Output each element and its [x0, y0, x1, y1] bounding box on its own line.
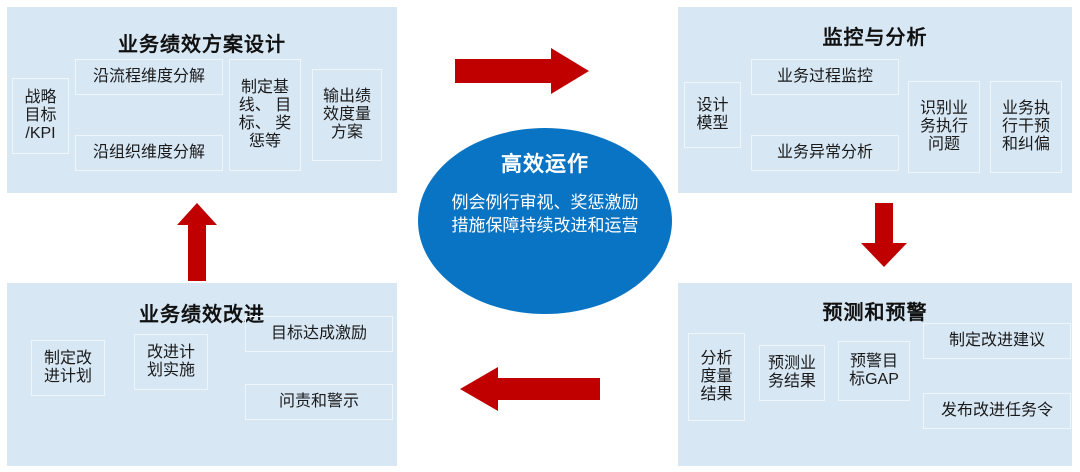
box-line: 务执行: [920, 118, 968, 136]
box-identify-execution-issues[interactable]: 识别业 务执行 问题: [908, 81, 980, 173]
box-line: 沿流程维度分解: [93, 68, 205, 86]
box-execute-improvement-plan[interactable]: 改进计 划实施: [134, 334, 208, 390]
box-line: 度量: [700, 368, 732, 386]
box-line: 标GAP: [849, 371, 899, 389]
box-line: 惩等: [239, 133, 291, 151]
box-design-model[interactable]: 设计 模型: [684, 82, 741, 148]
panel-title-forecast-and-alert: 预测和预警: [678, 303, 1072, 323]
panel-performance-plan-design: 业务绩效方案设计 战略 目标 /KPI 沿流程维度分解 沿组织维度分解 制定基 …: [7, 7, 397, 193]
box-line: 业务异常分析: [777, 144, 873, 162]
box-make-improvement-suggestion[interactable]: 制定改进建议: [923, 323, 1071, 359]
box-line: 制定改: [44, 350, 92, 368]
panel-monitoring-and-analysis: 监控与分析 设计 模型 业务过程监控 业务异常分析 识别业 务执行 问题 业务执…: [678, 7, 1072, 193]
box-line: 预警目: [849, 353, 899, 371]
box-decompose-by-process[interactable]: 沿流程维度分解: [75, 59, 223, 95]
box-line: 进计划: [44, 368, 92, 386]
arrow-monitor-to-forecast-icon: [861, 203, 907, 267]
box-analyze-measurement-results[interactable]: 分析 度量 结果: [688, 333, 745, 421]
panel-performance-improvement: 业务绩效改进 制定改 进计划 改进计 划实施 目标达成激励 问责和警示: [7, 283, 397, 466]
box-line: 设计: [696, 97, 728, 115]
box-line: 标、 奖: [239, 115, 291, 133]
box-line: 制定改进建议: [949, 332, 1045, 350]
box-line: 输出绩: [323, 88, 371, 106]
box-line: 问题: [920, 136, 968, 154]
box-line: 战略: [24, 89, 56, 107]
box-execution-intervention-correction[interactable]: 业务执 行干预 和纠偏: [990, 81, 1062, 173]
box-line: 方案: [323, 124, 371, 142]
box-line: 模型: [696, 115, 728, 133]
box-line: 制定基: [239, 79, 291, 97]
box-line: 结果: [700, 386, 732, 404]
panel-title-performance-plan-design: 业务绩效方案设计: [7, 35, 397, 55]
box-line: 改进计: [147, 344, 195, 362]
box-forecast-business-results[interactable]: 预测业 务结果: [759, 345, 825, 401]
box-goal-achievement-incentive[interactable]: 目标达成激励: [245, 316, 393, 352]
panel-title-monitoring-and-analysis: 监控与分析: [678, 28, 1072, 48]
arrow-forecast-to-improve-icon: [460, 367, 600, 411]
box-line: 问责和警示: [279, 393, 359, 411]
box-output-measurement-plan[interactable]: 输出绩 效度量 方案: [312, 69, 382, 161]
box-line: 沿组织维度分解: [93, 144, 205, 162]
box-set-baseline-target-reward[interactable]: 制定基 线、 目 标、 奖 惩等: [229, 59, 301, 171]
diagram-canvas: 业务绩效方案设计 战略 目标 /KPI 沿流程维度分解 沿组织维度分解 制定基 …: [0, 0, 1080, 472]
box-decompose-by-organization[interactable]: 沿组织维度分解: [75, 135, 223, 171]
panel-forecast-and-alert: 预测和预警 分析 度量 结果 预测业 务结果 预警目 标GAP 制定改进建议 发: [678, 283, 1072, 466]
box-line: 行干预: [1002, 118, 1050, 136]
box-line: 务结果: [768, 373, 816, 391]
box-business-process-monitoring[interactable]: 业务过程监控: [751, 59, 899, 95]
arrow-design-to-monitor-icon: [455, 48, 589, 94]
box-line: 发布改进任务令: [941, 402, 1053, 420]
box-line: 预测业: [768, 355, 816, 373]
box-line: 识别业: [920, 100, 968, 118]
center-ellipse-title: 高效运作: [501, 154, 589, 175]
box-line: 线、 目: [239, 97, 291, 115]
box-strategy-goal-kpi[interactable]: 战略 目标 /KPI: [12, 78, 69, 154]
box-issue-improvement-task-order[interactable]: 发布改进任务令: [923, 393, 1071, 429]
box-business-anomaly-analysis[interactable]: 业务异常分析: [751, 135, 899, 171]
box-accountability-and-warning[interactable]: 问责和警示: [245, 384, 393, 420]
box-line: 目标达成激励: [271, 325, 367, 343]
box-line: 目标: [24, 107, 56, 125]
box-line: 和纠偏: [1002, 136, 1050, 154]
center-ellipse-efficient-operation: 高效运作 例会例行审视、奖惩激励措施保障持续改进和运营: [418, 128, 672, 314]
box-line: 业务过程监控: [777, 68, 873, 86]
box-make-improvement-plan[interactable]: 制定改 进计划: [31, 340, 105, 396]
box-line: 业务执: [1002, 100, 1050, 118]
box-line: 划实施: [147, 362, 195, 380]
arrow-improve-to-design-icon: [177, 203, 217, 281]
box-line: /KPI: [24, 125, 56, 143]
box-line: 效度量: [323, 106, 371, 124]
box-alert-target-gap[interactable]: 预警目 标GAP: [838, 341, 910, 401]
box-line: 分析: [700, 350, 732, 368]
center-ellipse-body: 例会例行审视、奖惩激励措施保障持续改进和运营: [447, 191, 643, 238]
